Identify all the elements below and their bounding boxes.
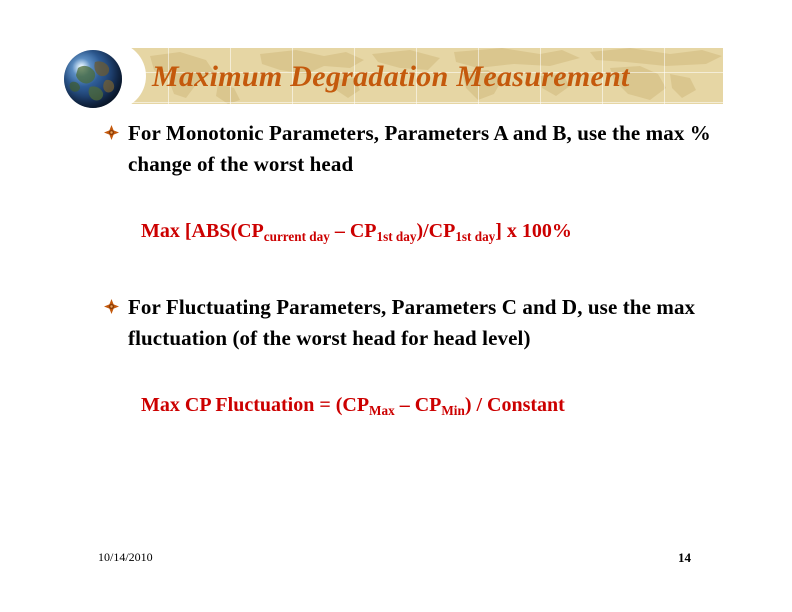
slide-body: For Monotonic Parameters, Parameters A a… — [0, 118, 792, 420]
spacer-1 — [0, 180, 792, 218]
formula-max-cp-fluctuation: Max CP Fluctuation = (CPMax – CPMin) / C… — [0, 392, 792, 420]
globe-icon — [64, 50, 122, 108]
formula-subscript: Min — [441, 403, 464, 418]
bullet-item-fluctuating: For Fluctuating Parameters, Parameters C… — [0, 292, 792, 354]
footer-page-number: 14 — [678, 550, 691, 566]
formula-max-percent-change: Max [ABS(CPcurrent day – CP1st day)/CP1s… — [0, 218, 792, 246]
formula-subscript: current day — [264, 229, 330, 244]
formula-part: )/CP — [416, 220, 455, 242]
formula-subscript: 1st day — [455, 229, 495, 244]
formula-part: ] x 100% — [495, 220, 572, 242]
diamond-bullet-icon — [104, 299, 119, 314]
formula-subscript: Max — [369, 403, 395, 418]
bullet-text-fluctuating: For Fluctuating Parameters, Parameters C… — [128, 292, 712, 354]
spacer-3 — [0, 354, 792, 392]
diamond-bullet-icon — [104, 125, 119, 140]
slide: Maximum Degradation Measurement For Mono… — [0, 0, 792, 612]
formula-subscript: 1st day — [377, 229, 417, 244]
formula-part: – CP — [395, 394, 442, 416]
page-title: Maximum Degradation Measurement — [152, 60, 718, 94]
formula-part: ) / Constant — [465, 394, 565, 416]
spacer-2 — [0, 246, 792, 292]
formula-part: Max CP Fluctuation = (CP — [141, 394, 369, 416]
bullet-item-monotonic: For Monotonic Parameters, Parameters A a… — [0, 118, 792, 180]
formula-part: Max [ABS(CP — [141, 220, 264, 242]
footer-date: 10/14/2010 — [98, 550, 153, 565]
formula-part: – CP — [330, 220, 377, 242]
bullet-text-monotonic: For Monotonic Parameters, Parameters A a… — [128, 118, 712, 180]
